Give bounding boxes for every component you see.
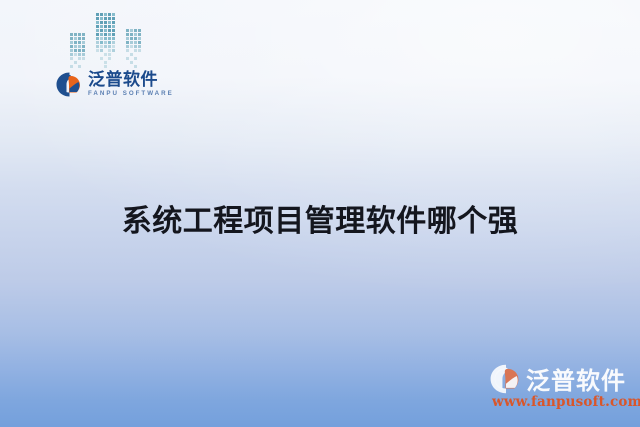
watermark-url: www.fanpusoft.com [492, 394, 640, 410]
brand-block: 泛普软件 FANPU SOFTWARE [56, 2, 236, 106]
fanpu-swoosh-logo-icon [56, 72, 83, 97]
brand-logo-lockup: 泛普软件 FANPU SOFTWARE [56, 72, 174, 97]
brand-name-cn: 泛普软件 [88, 72, 174, 89]
watermark-name-cn: 泛普软件 [526, 361, 626, 396]
brand-name-en: FANPU SOFTWARE [88, 91, 174, 97]
slide-canvas: 泛普软件 FANPU SOFTWARE 系统工程项目管理软件哪个强 泛普软件 w… [0, 0, 640, 427]
page-title: 系统工程项目管理软件哪个强 [0, 196, 640, 240]
watermark-logo-lockup: 泛普软件 [490, 361, 626, 396]
brand-logo-text: 泛普软件 FANPU SOFTWARE [88, 72, 174, 97]
fanpu-swoosh-logo-icon [490, 364, 522, 394]
watermark-block: 泛普软件 www.fanpusoft.com [490, 361, 632, 417]
pixel-city-skyline-icon [62, 5, 162, 71]
